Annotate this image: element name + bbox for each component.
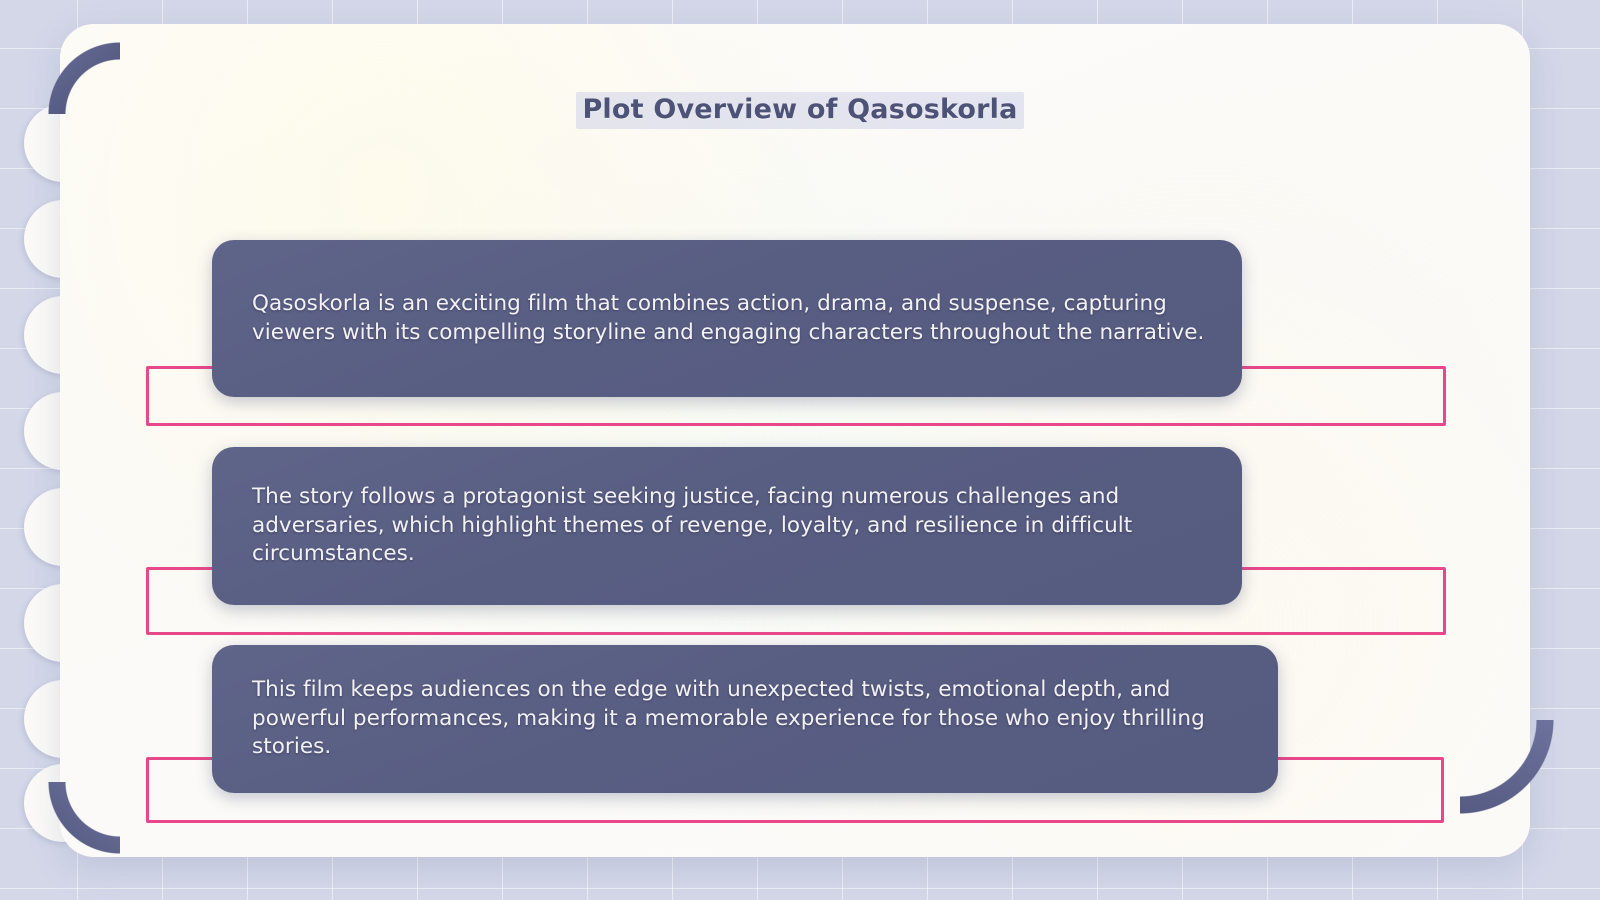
info-card-1-text: Qasoskorla is an exciting film that comb… [252, 290, 1208, 347]
info-card-2[interactable]: The story follows a protagonist seeking … [212, 447, 1242, 605]
info-card-3-text: This film keeps audiences on the edge wi… [252, 676, 1244, 762]
info-card-1[interactable]: Qasoskorla is an exciting film that comb… [212, 240, 1242, 397]
info-card-2-text: The story follows a protagonist seeking … [252, 483, 1208, 569]
info-card-3[interactable]: This film keeps audiences on the edge wi… [212, 645, 1278, 793]
slide-canvas: Plot Overview of Qasoskorla Qasoskorla i… [0, 0, 1600, 900]
